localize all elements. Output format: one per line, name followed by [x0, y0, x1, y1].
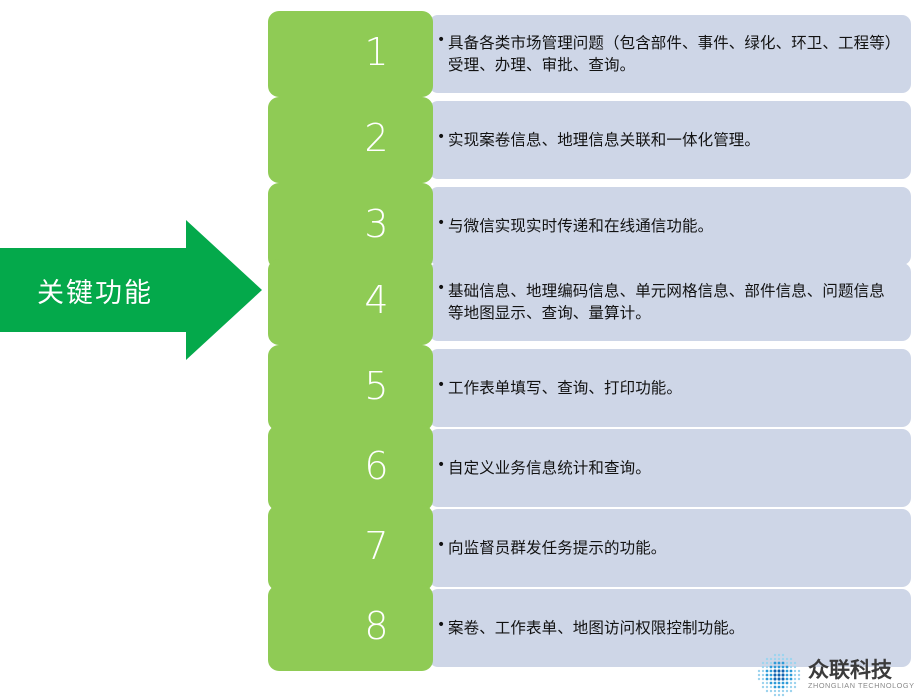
feature-number-text: 1	[364, 33, 388, 71]
feature-number-box[interactable]: 8	[268, 585, 433, 671]
feature-number-box[interactable]: 4	[268, 259, 433, 345]
feature-description-box: 自定义业务信息统计和查询。	[429, 429, 911, 507]
feature-description-text: 案卷、工作表单、地图访问权限控制功能。	[437, 617, 744, 639]
feature-number-text: 3	[364, 205, 388, 243]
feature-number-text: 2	[364, 119, 388, 157]
feature-number-box[interactable]: 6	[268, 425, 433, 511]
feature-number-text: 7	[364, 527, 388, 565]
feature-row[interactable]: 具备各类市场管理问题（包含部件、事件、绿化、环卫、工程等）受理、办理、审批、查询…	[268, 11, 911, 97]
feature-row[interactable]: 实现案卷信息、地理信息关联和一体化管理。 2	[268, 97, 911, 183]
feature-description-box: 实现案卷信息、地理信息关联和一体化管理。	[429, 101, 911, 179]
feature-description-text: 具备各类市场管理问题（包含部件、事件、绿化、环卫、工程等）受理、办理、审批、查询…	[437, 32, 899, 76]
feature-number-box[interactable]: 2	[268, 97, 433, 183]
feature-description-text: 向监督员群发任务提示的功能。	[437, 537, 666, 559]
feature-description-text: 工作表单填写、查询、打印功能。	[437, 377, 682, 399]
feature-description-box: 工作表单填写、查询、打印功能。	[429, 349, 911, 427]
feature-row[interactable]: 自定义业务信息统计和查询。 6	[268, 425, 911, 511]
logo-name-cn: 众联科技	[808, 659, 915, 681]
feature-row[interactable]: 工作表单填写、查询、打印功能。 5	[268, 345, 911, 431]
feature-number-text: 8	[364, 607, 388, 645]
feature-number-text: 4	[364, 281, 388, 319]
feature-description-text: 实现案卷信息、地理信息关联和一体化管理。	[437, 129, 760, 151]
feature-description-box: 与微信实现实时传递和在线通信功能。	[429, 187, 911, 265]
logo-wordmark: 众联科技 ZHONGLIAN TECHNOLOGY	[808, 659, 915, 691]
feature-number-box[interactable]: 3	[268, 183, 433, 269]
feature-number-box[interactable]: 5	[268, 345, 433, 431]
feature-description-box: 向监督员群发任务提示的功能。	[429, 509, 911, 587]
feature-row[interactable]: 向监督员群发任务提示的功能。 7	[268, 505, 911, 591]
company-logo: 众联科技 ZHONGLIAN TECHNOLOGY	[757, 652, 917, 698]
feature-description-box: 具备各类市场管理问题（包含部件、事件、绿化、环卫、工程等）受理、办理、审批、查询…	[429, 15, 911, 93]
feature-number-text: 6	[364, 447, 388, 485]
feature-number-box[interactable]: 7	[268, 505, 433, 591]
feature-description-text: 自定义业务信息统计和查询。	[437, 457, 651, 479]
feature-row[interactable]: 与微信实现实时传递和在线通信功能。 3	[268, 183, 911, 269]
feature-row[interactable]: 基础信息、地理编码信息、单元网格信息、部件信息、问题信息等地图显示、查询、量算计…	[268, 259, 911, 345]
feature-number-text: 5	[364, 367, 388, 405]
logo-name-en: ZHONGLIAN TECHNOLOGY	[808, 682, 915, 691]
feature-description-text: 与微信实现实时传递和在线通信功能。	[437, 215, 713, 237]
feature-description-box: 基础信息、地理编码信息、单元网格信息、部件信息、问题信息等地图显示、查询、量算计…	[429, 263, 911, 341]
feature-description-text: 基础信息、地理编码信息、单元网格信息、部件信息、问题信息等地图显示、查询、量算计…	[437, 280, 899, 324]
feature-number-box[interactable]: 1	[268, 11, 433, 97]
zhonglian-dot-globe-icon	[757, 653, 801, 697]
feature-rows-list: 具备各类市场管理问题（包含部件、事件、绿化、环卫、工程等）受理、办理、审批、查询…	[0, 0, 919, 700]
